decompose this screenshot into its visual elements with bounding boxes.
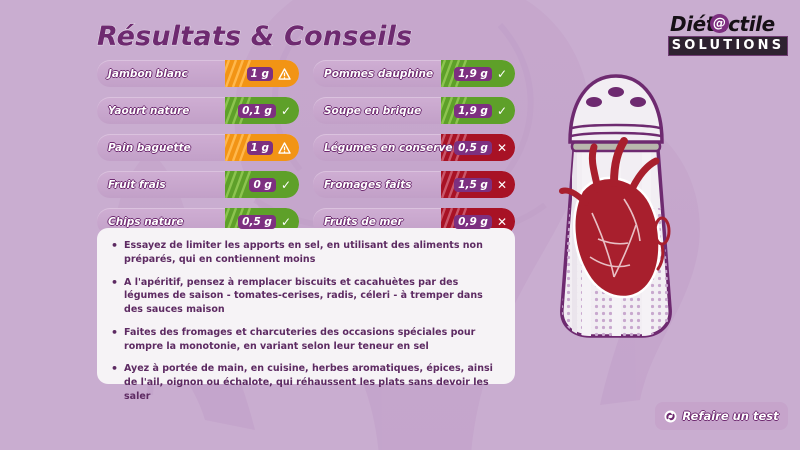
advice-text: A l'apéritif, pensez à remplacer biscuit… — [124, 276, 499, 317]
result-row-pair: Fruit frais0 g✓Fromages faits1,5 g✕ — [97, 171, 515, 198]
cross-icon: ✕ — [497, 179, 507, 191]
result-value: 0 g — [249, 178, 275, 192]
warning-triangle-icon — [278, 68, 291, 80]
redo-test-button[interactable]: Refaire un test — [655, 402, 788, 430]
check-icon: ✓ — [281, 179, 291, 191]
bullet-icon: • — [111, 239, 118, 267]
advice-text: Essayez de limiter les apports en sel, e… — [124, 239, 499, 267]
result-badge: 1 g — [225, 134, 299, 161]
brand-logo: Diétactile @ SOLUTIONS — [668, 12, 788, 58]
bullet-icon: • — [111, 362, 118, 403]
advice-item: •A l'apéritif, pensez à remplacer biscui… — [111, 276, 499, 317]
result-label: Yaourt nature — [97, 105, 189, 117]
result-value: 1,9 g — [454, 104, 492, 118]
warning-triangle-icon — [278, 142, 291, 154]
advice-text: Ayez à portée de main, en cuisine, herbe… — [124, 362, 499, 403]
result-row-pair: Jambon blanc1 gPommes dauphine1,9 g✓ — [97, 60, 515, 87]
bullet-icon: • — [111, 326, 118, 354]
result-row[interactable]: Légumes en conserve0,5 g✕ — [313, 134, 515, 161]
screen-root: Résultats & Conseils Diétactile @ SOLUTI… — [0, 0, 800, 450]
result-label: Soupe en brique — [313, 105, 421, 117]
result-row[interactable]: Pain baguette1 g — [97, 134, 299, 161]
cross-icon: ✕ — [497, 142, 507, 154]
result-value: 0,1 g — [238, 104, 276, 118]
result-badge: 1,9 g✓ — [441, 97, 515, 124]
result-badge: 1 g — [225, 60, 299, 87]
check-icon: ✓ — [281, 216, 291, 228]
logo-at-icon: @ — [710, 14, 729, 33]
logo-wordmark: Diétactile — [670, 12, 788, 36]
result-label: Légumes en conserve — [313, 142, 452, 154]
result-badge: 1,5 g✕ — [441, 171, 515, 198]
check-icon: ✓ — [497, 68, 507, 80]
result-label: Pommes dauphine — [313, 68, 433, 80]
cross-icon: ✕ — [497, 216, 507, 228]
result-label: Pain baguette — [97, 142, 191, 154]
logo-subtitle: SOLUTIONS — [668, 36, 788, 56]
result-badge: 1,9 g✓ — [441, 60, 515, 87]
result-badge: 0,1 g✓ — [225, 97, 299, 124]
refresh-icon — [664, 410, 677, 423]
result-badge: 0 g✓ — [225, 171, 299, 198]
redo-test-label: Refaire un test — [682, 409, 778, 423]
result-row[interactable]: Yaourt nature0,1 g✓ — [97, 97, 299, 124]
result-row-pair: Yaourt nature0,1 g✓Soupe en brique1,9 g✓ — [97, 97, 515, 124]
bullet-icon: • — [111, 276, 118, 317]
check-icon: ✓ — [281, 105, 291, 117]
page-title: Résultats & Conseils — [97, 21, 412, 52]
result-value: 1,9 g — [454, 67, 492, 81]
result-row[interactable]: Soupe en brique1,9 g✓ — [313, 97, 515, 124]
result-row[interactable]: Fruit frais0 g✓ — [97, 171, 299, 198]
advice-card: •Essayez de limiter les apports en sel, … — [97, 228, 515, 384]
result-value: 1 g — [247, 141, 273, 155]
result-row[interactable]: Jambon blanc1 g — [97, 60, 299, 87]
result-label: Chips nature — [97, 216, 184, 228]
results-list: Jambon blanc1 gPommes dauphine1,9 g✓Yaou… — [97, 60, 515, 245]
result-value: 0,9 g — [454, 215, 492, 229]
advice-item: •Essayez de limiter les apports en sel, … — [111, 239, 499, 267]
result-row[interactable]: Fromages faits1,5 g✕ — [313, 171, 515, 198]
result-value: 1,5 g — [454, 178, 492, 192]
check-icon: ✓ — [497, 105, 507, 117]
result-label: Fromages faits — [313, 179, 412, 191]
advice-text: Faites des fromages et charcuteries des … — [124, 326, 499, 354]
result-value: 0,5 g — [454, 141, 492, 155]
result-label: Jambon blanc — [97, 68, 188, 80]
result-row-pair: Pain baguette1 gLégumes en conserve0,5 g… — [97, 134, 515, 161]
result-value: 0,5 g — [238, 215, 276, 229]
result-row[interactable]: Pommes dauphine1,9 g✓ — [313, 60, 515, 87]
advice-item: •Faites des fromages et charcuteries des… — [111, 326, 499, 354]
result-label: Fruit frais — [97, 179, 166, 191]
advice-item: •Ayez à portée de main, en cuisine, herb… — [111, 362, 499, 403]
result-label: Fruits de mer — [313, 216, 403, 228]
result-value: 1 g — [247, 67, 273, 81]
salt-shaker-illustration — [516, 58, 716, 358]
